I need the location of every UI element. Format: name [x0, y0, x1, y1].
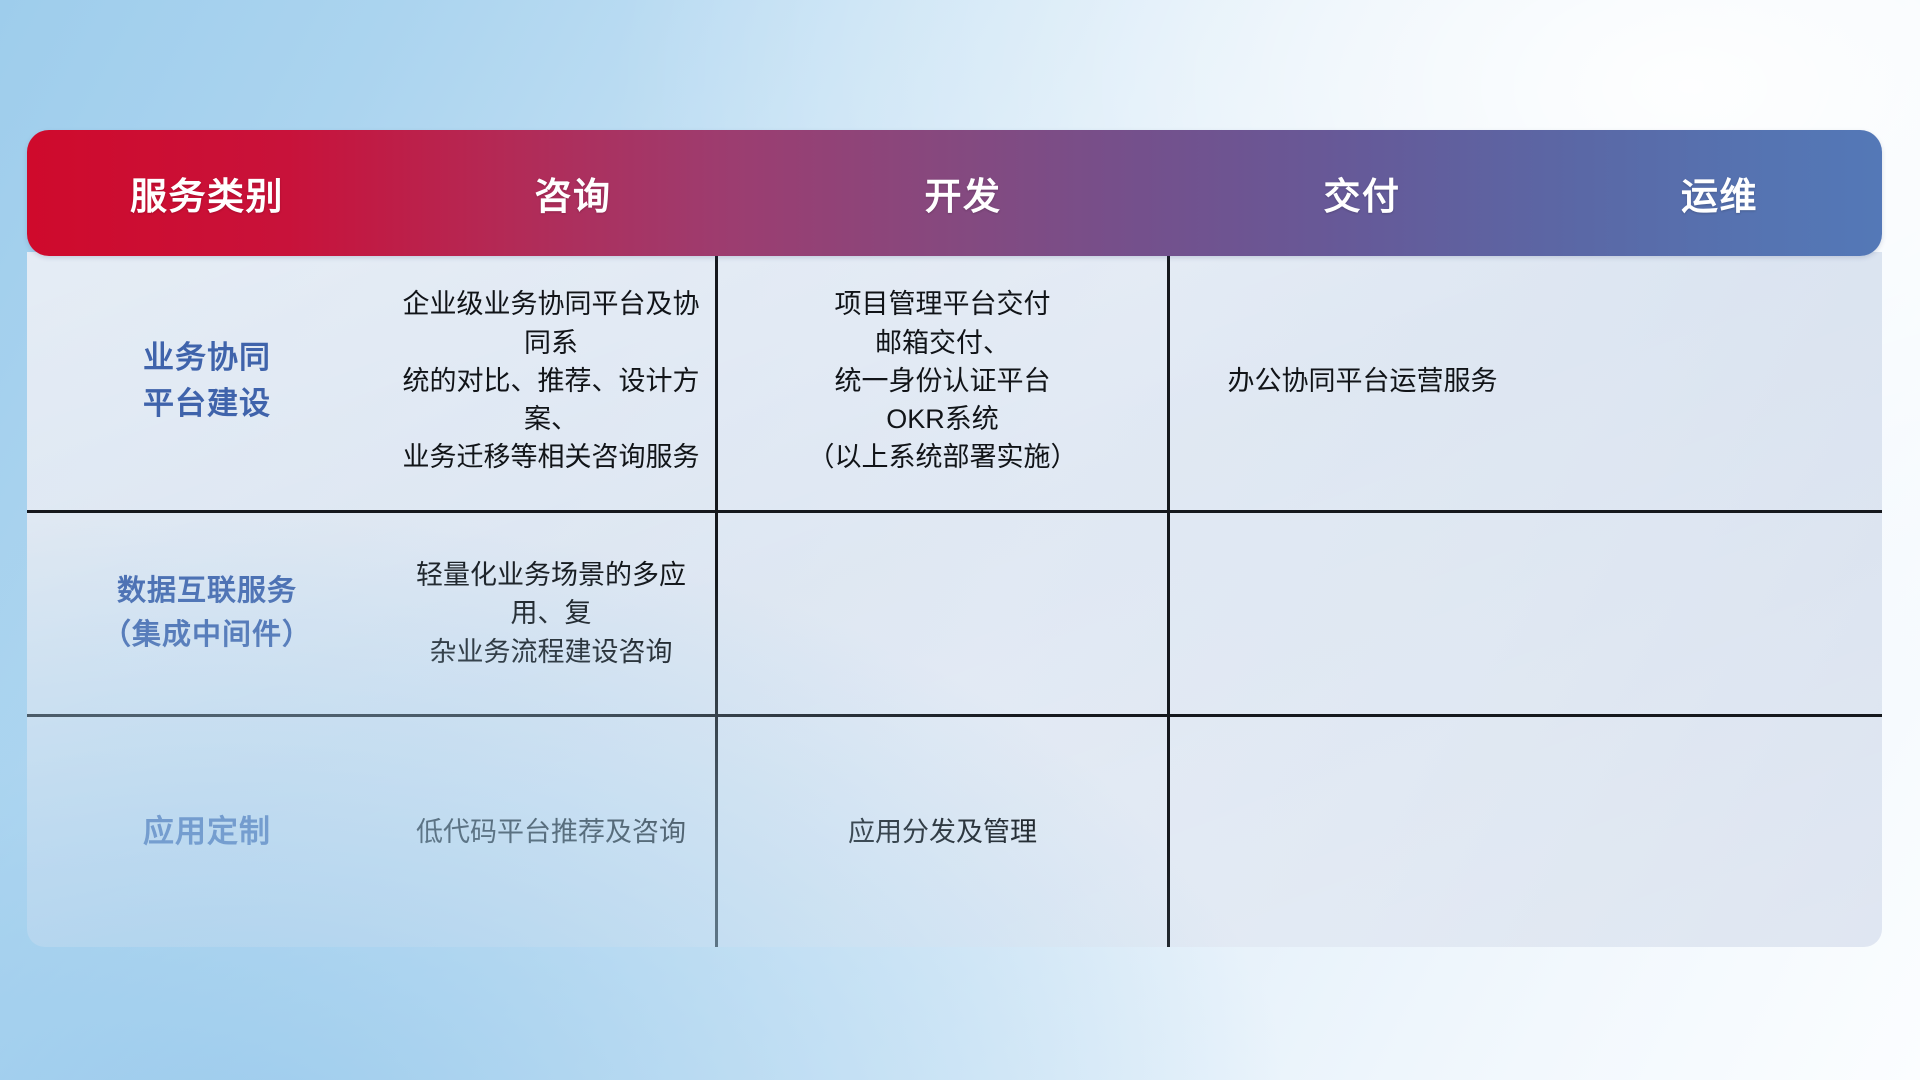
- cell-operations: 办公协同平台运营服务: [1167, 252, 1555, 510]
- column-header-operations: 运维: [1557, 130, 1882, 256]
- cell-operations: [1167, 513, 1555, 714]
- table-row: 数据互联服务 （集成中间件） 轻量化业务场景的多应用、复 杂业务流程建设咨询: [27, 510, 1882, 714]
- table-body: 业务协同 平台建设 企业级业务协同平台及协同系 统的对比、推荐、设计方案、 业务…: [27, 252, 1882, 947]
- cell-consulting: 低代码平台推荐及咨询: [387, 717, 715, 947]
- cell-category: 应用定制: [27, 717, 387, 947]
- cell-consulting: 轻量化业务场景的多应用、复 杂业务流程建设咨询: [387, 513, 715, 714]
- column-header-delivery: 交付: [1167, 130, 1557, 256]
- table-header-row: 服务类别 咨询 开发 交付 运维: [27, 130, 1882, 256]
- cell-delivery: 项目管理平台交付 邮箱交付、 统一身份认证平台 OKR系统 （以上系统部署实施）: [715, 252, 1167, 510]
- column-header-development: 开发: [759, 130, 1167, 256]
- cell-consulting: 企业级业务协同平台及协同系 统的对比、推荐、设计方案、 业务迁移等相关咨询服务: [387, 252, 715, 510]
- table-row: 应用定制 低代码平台推荐及咨询 应用分发及管理: [27, 714, 1882, 947]
- slide-canvas: 服务类别 咨询 开发 交付 运维 业务协同 平台建设 企业级业务协同平台及协同系…: [0, 0, 1920, 1080]
- column-header-consulting: 咨询: [387, 130, 759, 256]
- table-row: 业务协同 平台建设 企业级业务协同平台及协同系 统的对比、推荐、设计方案、 业务…: [27, 252, 1882, 510]
- service-matrix-table: 服务类别 咨询 开发 交付 运维 业务协同 平台建设 企业级业务协同平台及协同系…: [27, 130, 1882, 947]
- cell-category: 业务协同 平台建设: [27, 252, 387, 510]
- column-header-category: 服务类别: [27, 130, 387, 256]
- cell-operations: [1167, 717, 1555, 947]
- cell-category: 数据互联服务 （集成中间件）: [27, 513, 387, 714]
- cell-delivery: 应用分发及管理: [715, 717, 1167, 947]
- cell-delivery: [715, 513, 1167, 714]
